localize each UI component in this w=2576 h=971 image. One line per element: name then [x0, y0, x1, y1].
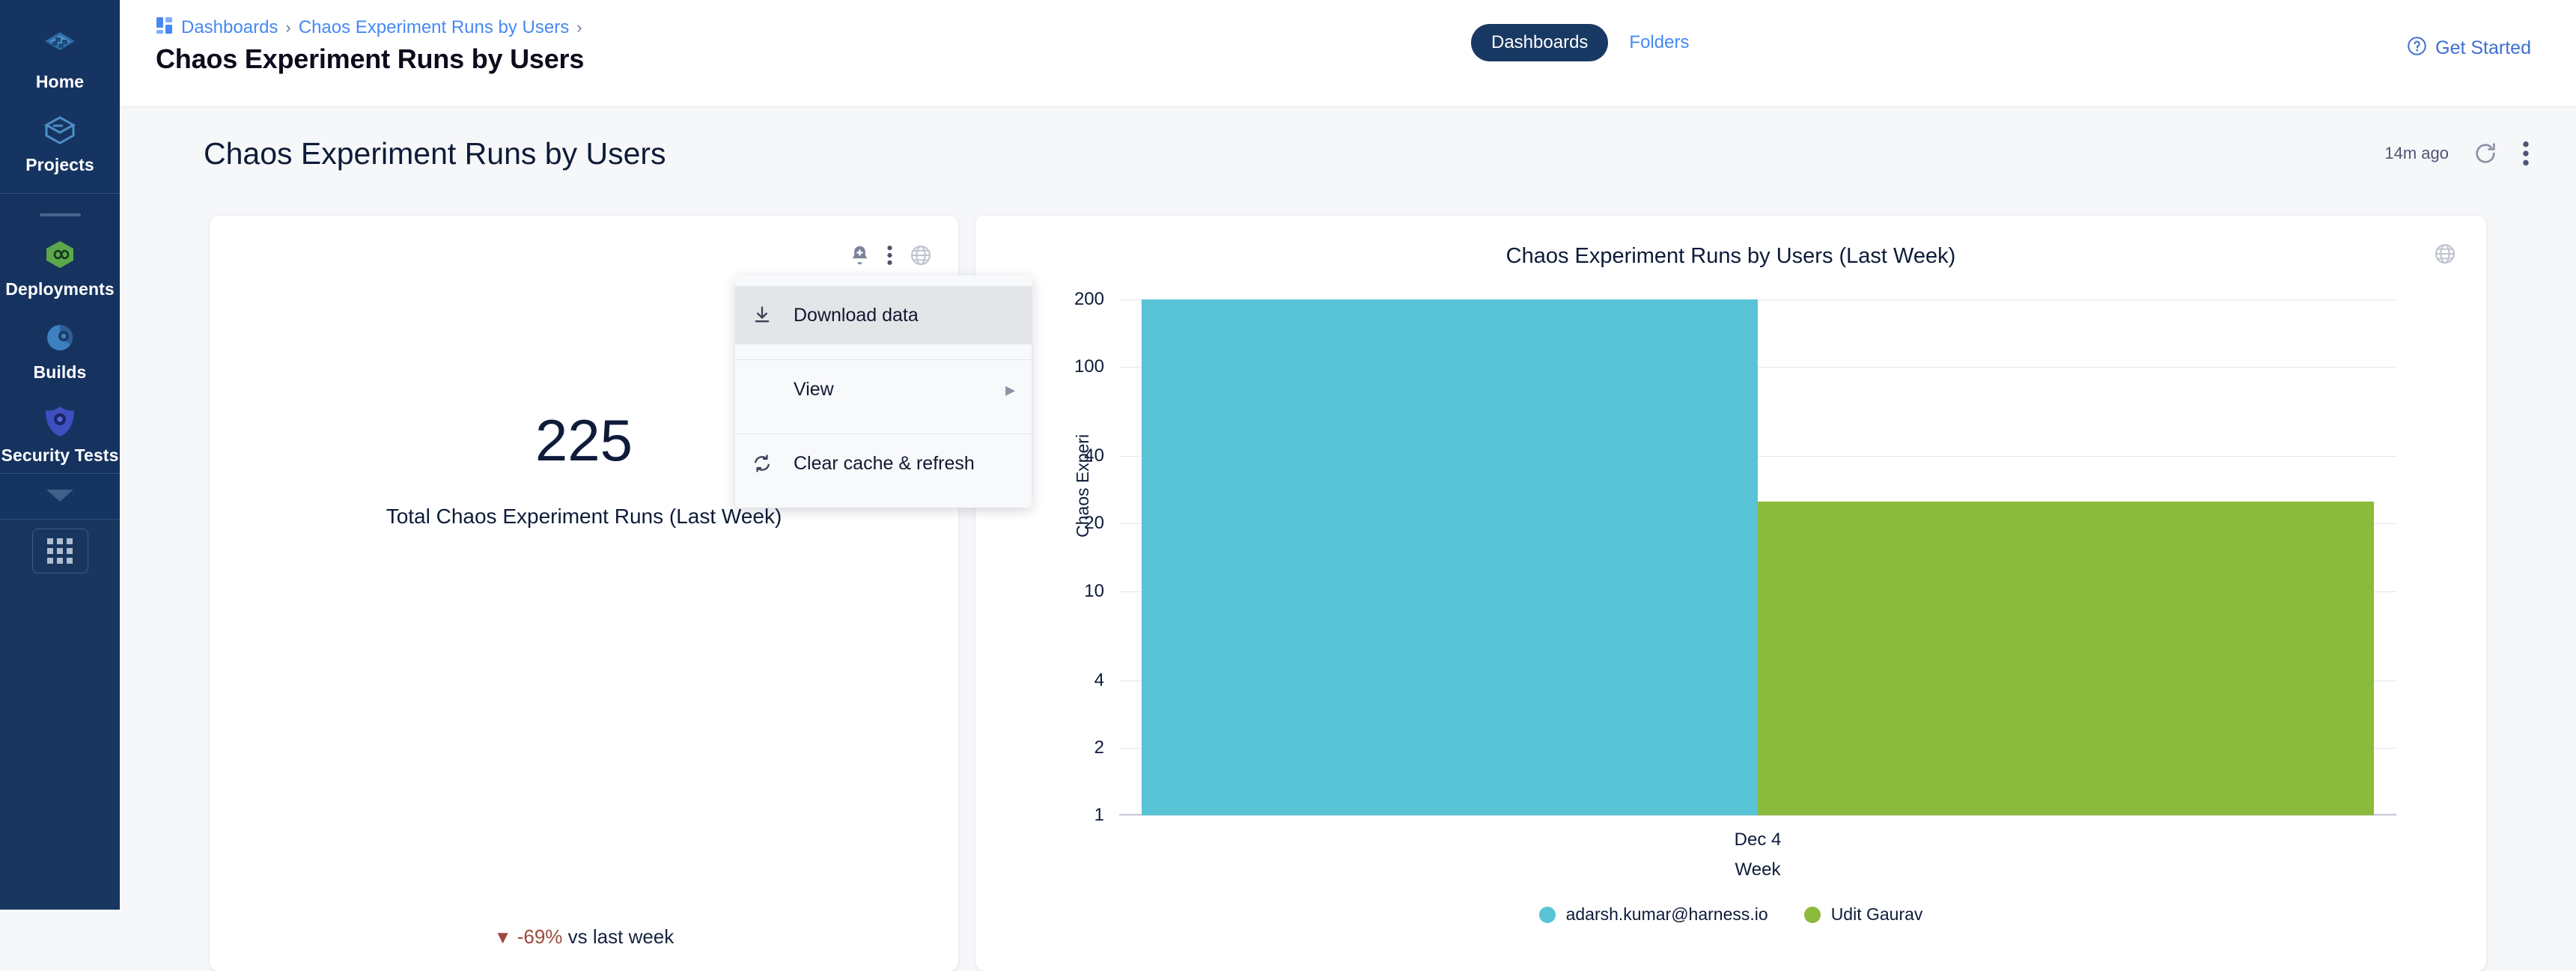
refresh-icon[interactable] — [2473, 141, 2498, 166]
chart-bar[interactable] — [1142, 299, 1758, 815]
add-alert-bell-icon[interactable] — [850, 244, 870, 267]
dashboard-title: Chaos Experiment Runs by Users — [204, 136, 666, 171]
kebab-menu-icon[interactable] — [2522, 141, 2530, 166]
chart-legend: adarsh.kumar@harness.io Udit Gaurav — [975, 904, 2486, 925]
tile-context-menu: Download data View ▸ Clear cache & refre… — [735, 276, 1032, 508]
nav-group-primary: Home Projects — [0, 0, 120, 193]
legend-swatch — [1539, 907, 1556, 923]
chart-x-axis-label: Week — [1119, 859, 2396, 880]
legend-label: adarsh.kumar@harness.io — [1566, 904, 1768, 925]
download-icon — [752, 305, 794, 326]
security-shield-icon — [40, 401, 79, 441]
breadcrumb-separator-trailing: › — [576, 18, 582, 37]
chart-tile: Chaos Experiment Runs by Users (Last Wee… — [975, 216, 2486, 971]
kpi-delta-value: -69% — [517, 925, 563, 948]
chart-y-tick-label: 10 — [1084, 581, 1104, 602]
sidebar-item-builds[interactable]: Builds — [0, 307, 120, 390]
chart-x-tick-label: Dec 4 — [1119, 830, 2396, 850]
chart-y-tick-label: 1 — [1094, 805, 1104, 826]
menu-item-view[interactable]: View ▸ — [735, 360, 1032, 418]
tab-dashboards[interactable]: Dashboards — [1471, 24, 1608, 61]
sidebar-item-label: Projects — [25, 155, 94, 175]
breadcrumb-item-dashboards[interactable]: Dashboards — [181, 17, 278, 38]
menu-spacer — [735, 418, 1032, 433]
kpi-delta: ▼ -69% vs last week — [210, 925, 958, 949]
kpi-tile-toolbar — [850, 244, 932, 267]
sidebar-item-home[interactable]: Home — [0, 16, 120, 100]
home-cube-icon — [40, 27, 79, 67]
breadcrumb-item-current[interactable]: Chaos Experiment Runs by Users — [299, 17, 569, 38]
sidebar-item-projects[interactable]: Projects — [0, 100, 120, 183]
chart-y-tick-label: 2 — [1094, 737, 1104, 758]
nav-collapse-handle — [40, 213, 81, 216]
chevron-down-icon — [43, 487, 76, 507]
projects-box-icon — [40, 110, 79, 150]
kebab-menu-icon[interactable] — [886, 245, 893, 266]
menu-item-clear-cache-refresh[interactable]: Clear cache & refresh — [735, 434, 1032, 493]
menu-item-download-data[interactable]: Download data — [735, 286, 1032, 344]
dashboards-grid-icon — [156, 16, 174, 38]
dashboard-header: Chaos Experiment Runs by Users 14m ago — [120, 108, 2576, 213]
menu-item-label: Download data — [794, 305, 1015, 326]
apps-grid-button[interactable] — [32, 529, 88, 573]
get-started-label: Get Started — [2435, 37, 2531, 59]
tab-folders[interactable]: Folders — [1622, 24, 1696, 61]
sidebar-item-label: Deployments — [5, 279, 115, 299]
nav-group-modules: Deployments Builds Securi — [0, 194, 120, 473]
trend-down-arrow-icon: ▼ — [494, 928, 512, 948]
menu-spacer — [735, 344, 1032, 359]
chart-y-tick-label: 20 — [1084, 513, 1104, 534]
sidebar-item-label: Home — [36, 72, 84, 92]
legend-label: Udit Gaurav — [1831, 904, 1923, 925]
top-bar: Dashboards › Chaos Experiment Runs by Us… — [120, 0, 2576, 107]
chevron-right-icon: ▸ — [1005, 378, 1015, 401]
sidebar-item-deployments[interactable]: Deployments — [0, 224, 120, 307]
refresh-cycle-icon — [752, 453, 794, 474]
breadcrumb: Dashboards › Chaos Experiment Runs by Us… — [156, 16, 582, 38]
last-refreshed-label: 14m ago — [2384, 144, 2449, 163]
menu-item-label: View — [794, 379, 1005, 401]
chart-y-tick-label: 100 — [1074, 356, 1104, 377]
chart-y-tick-label: 40 — [1084, 445, 1104, 466]
chart-bar[interactable] — [1758, 502, 2374, 815]
get-started-button[interactable]: Get Started — [2407, 36, 2531, 60]
globe-icon[interactable] — [910, 244, 932, 267]
left-nav: Home Projects Deployments — [0, 0, 120, 910]
page-title: Chaos Experiment Runs by Users — [156, 43, 584, 75]
legend-swatch — [1804, 907, 1821, 923]
sidebar-item-security-tests[interactable]: Security Tests — [0, 390, 120, 473]
top-tabs: Dashboards Folders — [1471, 24, 1696, 61]
legend-item[interactable]: adarsh.kumar@harness.io — [1539, 904, 1768, 925]
sidebar-item-label: Builds — [34, 362, 87, 383]
builds-circle-icon — [40, 317, 79, 358]
help-circle-icon — [2407, 36, 2427, 60]
nav-collapse-button[interactable] — [0, 473, 120, 520]
menu-bottom-padding — [735, 493, 1032, 508]
chart-y-tick-label: 4 — [1094, 670, 1104, 691]
chart-y-tick-label: 200 — [1074, 289, 1104, 310]
sidebar-item-label: Security Tests — [1, 445, 119, 466]
chart-plot-area: 124102040100200 — [1119, 299, 2396, 815]
deployments-infinity-icon — [40, 234, 79, 275]
chart-gridline — [1119, 815, 2396, 816]
menu-item-label: Clear cache & refresh — [794, 453, 1015, 475]
menu-top-padding — [735, 276, 1032, 286]
chart-title: Chaos Experiment Runs by Users (Last Wee… — [975, 244, 2486, 269]
kpi-delta-suffix: vs last week — [568, 925, 675, 948]
kpi-caption: Total Chaos Experiment Runs (Last Week) — [210, 505, 958, 529]
dashboard-actions: 14m ago — [2384, 141, 2530, 166]
legend-item[interactable]: Udit Gaurav — [1804, 904, 1923, 925]
breadcrumb-separator: › — [285, 18, 290, 37]
apps-grid-icon — [47, 538, 73, 564]
